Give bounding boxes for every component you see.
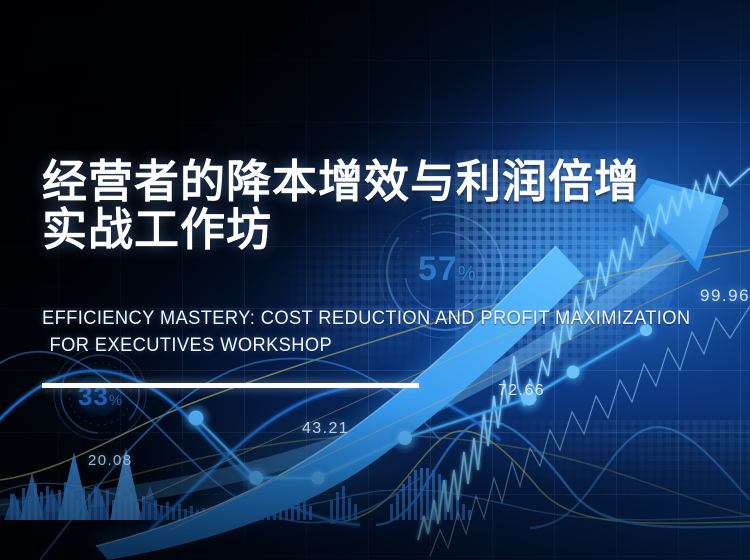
poster-banner: 57% 33% 99.96 72.66 43.21 20.08 经营者的降本增效… bbox=[0, 0, 750, 560]
subtitle-line-2: FOR EXECUTIVES WORKSHOP bbox=[42, 332, 700, 359]
page-subtitle: EFFICIENCY MASTERY: COST REDUCTION AND P… bbox=[42, 305, 742, 359]
title-line-1: 经营者的降本增效与利润倍增 bbox=[42, 158, 732, 206]
page-title: 经营者的降本增效与利润倍增 实战工作坊 bbox=[42, 158, 732, 254]
divider-rule bbox=[42, 383, 419, 388]
subtitle-line-1: EFFICIENCY MASTERY: COST REDUCTION AND P… bbox=[42, 305, 700, 332]
title-line-2: 实战工作坊 bbox=[42, 206, 732, 254]
vignette-overlay bbox=[0, 0, 750, 560]
